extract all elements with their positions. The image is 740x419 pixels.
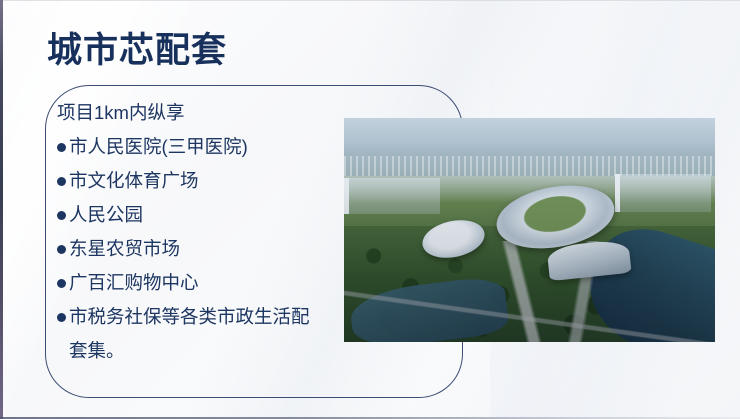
- page-title: 城市芯配套: [47, 22, 227, 73]
- slide-top-edge: [0, 0, 740, 1]
- list-item: 市人民医院(三甲医院): [57, 130, 357, 164]
- aerial-photo: [344, 118, 715, 342]
- bullet-dot-icon: [57, 313, 66, 322]
- list-item-label: 市文化体育广场: [69, 164, 199, 198]
- list-item: 东星农贸市场: [57, 232, 357, 266]
- list-item-label: 广百汇购物中心: [69, 266, 199, 300]
- bullet-dot-icon: [57, 143, 66, 152]
- list-item-label: 市税务社保等各类市政生活配: [69, 300, 310, 334]
- photo-vignette: [344, 118, 715, 342]
- list-lead-text: 项目1km内纵享: [57, 96, 357, 130]
- list-item-label: 市人民医院(三甲医院): [69, 130, 248, 164]
- list-item-continuation: 套集。: [57, 334, 357, 368]
- list-item-label: 人民公园: [69, 198, 143, 232]
- list-item: 人民公园: [57, 198, 357, 232]
- bullet-dot-icon: [57, 245, 66, 254]
- bullet-dot-icon: [57, 279, 66, 288]
- bullet-dot-icon: [57, 211, 66, 220]
- list-item: 市文化体育广场: [57, 164, 357, 198]
- slide-left-edge-bar: [0, 0, 3, 419]
- bullet-dot-icon: [57, 177, 66, 186]
- list-item-label: 东星农贸市场: [69, 232, 180, 266]
- list-item: 市税务社保等各类市政生活配: [57, 300, 357, 334]
- list-item: 广百汇购物中心: [57, 266, 357, 300]
- slide-root: 城市芯配套 项目1km内纵享 市人民医院(三甲医院) 市文化体育广场 人民公园 …: [0, 0, 740, 419]
- amenities-list: 项目1km内纵享 市人民医院(三甲医院) 市文化体育广场 人民公园 东星农贸市场…: [57, 96, 357, 368]
